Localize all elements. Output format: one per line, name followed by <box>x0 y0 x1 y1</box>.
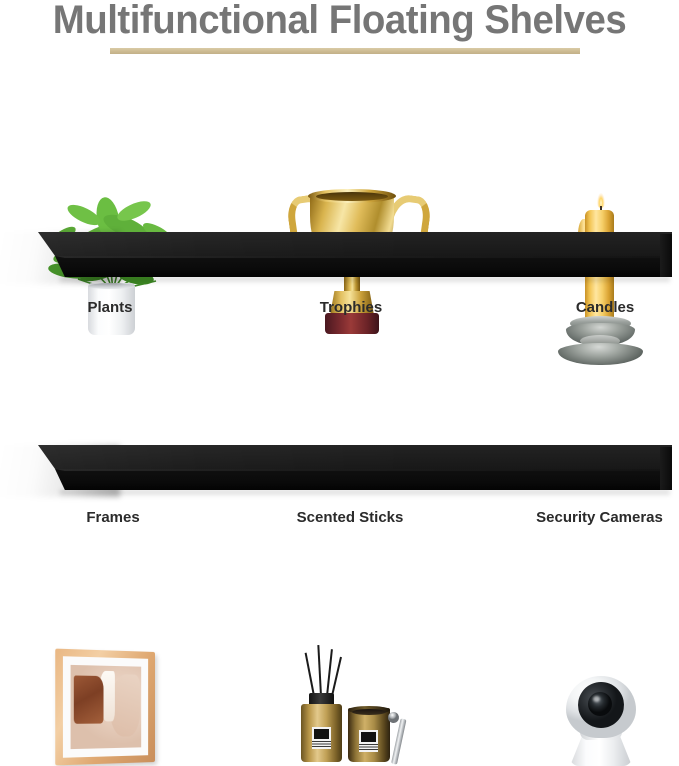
diffuser-label-mark <box>314 729 329 739</box>
frame-mat <box>63 656 148 758</box>
shelf-front-edge <box>55 469 672 490</box>
reed-stick-1 <box>305 653 315 697</box>
shelf-right-edge <box>660 447 672 490</box>
floating-shelf-bottom <box>0 445 679 505</box>
wick-trimmer-handle <box>391 718 406 764</box>
label-frames: Frames <box>53 508 173 528</box>
trophy-rim-inner <box>316 192 388 201</box>
shelf-front-edge <box>55 256 672 277</box>
floating-shelf-top <box>0 232 679 292</box>
frame-artwork <box>71 665 142 749</box>
shelf-under-shadow <box>60 490 670 497</box>
candle-jar-label-mark <box>361 732 376 742</box>
diffuser-label-text <box>312 741 331 748</box>
title-underline-rule <box>110 48 580 54</box>
shelf-top-surface <box>38 445 672 469</box>
label-security-cameras: Security Cameras <box>520 508 679 528</box>
label-scented-sticks: Scented Sticks <box>280 508 420 528</box>
shelf-bottom-labels: Frames Scented Sticks Security Cameras <box>0 508 679 532</box>
camera-lens <box>588 692 612 716</box>
shelf-right-edge <box>660 234 672 277</box>
reed-stick-2 <box>317 645 322 696</box>
shelf-row-top: Plants Trophies Candles <box>0 85 679 315</box>
shelf-top-surface <box>38 232 672 256</box>
candle-jar-label-text <box>359 744 378 751</box>
shelf-row-bottom: Frames Scented Sticks Security Cameras <box>0 300 679 531</box>
infographic-page: Multifunctional Floating Shelves <box>0 0 679 531</box>
art-shape-terracotta <box>74 675 104 724</box>
page-title: Multifunctional Floating Shelves <box>14 0 666 43</box>
picture-frame-icon <box>55 649 155 766</box>
candle-jar-wax <box>352 709 386 715</box>
shelf-under-shadow <box>60 277 670 284</box>
camera-lens-glint <box>593 696 600 702</box>
reed-stick-4 <box>331 657 342 696</box>
